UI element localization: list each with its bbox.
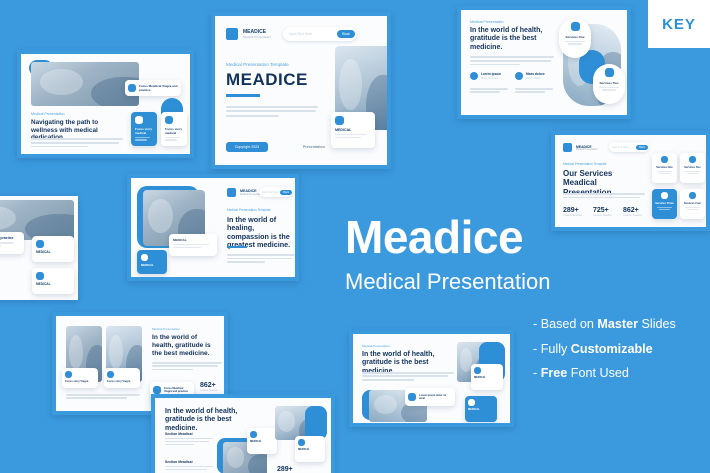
hero-logo: MEADICE Medical Presentation	[226, 28, 271, 40]
slide-health-top[interactable]: Medical Presentation In the world of hea…	[457, 6, 631, 119]
card-icon	[165, 116, 173, 124]
left-edge-card-1[interactable]: MEDICAL	[32, 236, 74, 262]
card-icon	[250, 431, 257, 438]
hero-copyright-button[interactable]: Copyright 2023	[226, 142, 268, 152]
card-icon	[141, 254, 148, 261]
wellness-card-2[interactable]: Focus story medical	[161, 112, 187, 146]
card-icon	[36, 272, 44, 280]
card-icon	[474, 367, 481, 374]
logo-mark-icon	[227, 188, 236, 197]
card-icon	[298, 439, 305, 446]
feature-item-2: - Fully Customizable	[533, 343, 708, 356]
wellness-card-1[interactable]: Focus story medical	[131, 112, 157, 146]
health-br-tile[interactable]: MEDICAL	[465, 396, 497, 422]
services-card-4[interactable]: Services Four	[680, 189, 705, 219]
health-top-card-1[interactable]: Services One	[559, 18, 591, 58]
hero-eyebrow: Medical Presentation Template	[226, 62, 289, 67]
banner-icon	[153, 386, 161, 394]
health-br-card[interactable]: MEDICAL	[471, 364, 503, 390]
hero-search-bar[interactable]: Input Text Here Black	[283, 27, 357, 41]
left-edge-card-2[interactable]: MEDICAL	[32, 268, 74, 294]
search-button[interactable]: Black	[337, 30, 355, 38]
wellness-eyebrow: Medical Presentation	[31, 112, 65, 116]
card-icon	[65, 371, 72, 378]
health-top-bullet-1: Lorem ipsum dolor sit amet	[470, 72, 501, 80]
health-top-title: In the world of health, gratitude is the…	[470, 27, 552, 52]
healing-card[interactable]: MEDICAL	[169, 234, 217, 256]
slide-health-bottom-mid[interactable]: In the world of health, gratitude is the…	[151, 394, 335, 473]
card-icon	[661, 156, 668, 163]
left-edge-title: Focus Meadical Viagra and practice	[0, 236, 20, 240]
healing-eyebrow: Medical Presentation Template	[227, 208, 271, 212]
health-bm-card-1[interactable]: MEDICAL	[247, 428, 277, 454]
health-bl-eyebrow: Medical Presentation	[152, 327, 180, 331]
headline-subtitle: Medical Presentation	[345, 271, 675, 293]
key-format-badge: KEY	[648, 0, 710, 48]
health-top-eyebrow: Medical Presentation	[470, 20, 504, 24]
card-icon	[36, 240, 44, 248]
feature-item-1: - Based on Master Slides	[533, 318, 708, 331]
health-bl-title: In the world of health, gratitude is the…	[152, 334, 220, 357]
card-icon	[689, 156, 696, 163]
card-icon	[135, 116, 143, 124]
feature-item-3: - Free Font Used	[533, 367, 708, 380]
slide-health-bottom-right[interactable]: Medical Presentation In the world of hea…	[349, 330, 514, 427]
card-icon	[571, 22, 580, 31]
bullet-dot-icon	[515, 72, 523, 80]
card-icon	[335, 116, 344, 125]
bullet-dot-icon	[470, 72, 478, 80]
headline-title: Meadice	[345, 214, 675, 260]
card-icon	[605, 68, 614, 77]
health-bm-section-1: Section Meadical	[165, 432, 193, 436]
health-br-banner[interactable]: Lorem ipsum dolor sit amet	[405, 388, 455, 406]
wellness-banner[interactable]: Focus Meadical Viagra and practice	[125, 80, 181, 96]
banner-icon	[408, 393, 416, 401]
health-bm-stat: 289+ Custom Species	[277, 466, 294, 473]
card-icon	[661, 192, 668, 199]
feature-list: - Based on Master Slides - Fully Customi…	[533, 318, 708, 392]
health-top-card-2[interactable]: Services Two	[593, 64, 625, 104]
health-bl-stat: 862+ Custom Species	[200, 382, 217, 392]
services-card-2[interactable]: Services Two	[680, 153, 705, 183]
slide-left-edge[interactable]: Focus Meadical Viagra and practice Lorem…	[0, 196, 78, 300]
search-placeholder: Input Text Here	[289, 32, 312, 36]
slide-healing[interactable]: MEDICAL MEDICAL MEADICE Medical Presenta…	[127, 174, 299, 281]
health-bm-section-2: Section Meadical	[165, 460, 193, 464]
key-badge-label: KEY	[662, 16, 696, 33]
health-br-eyebrow: Medical Presentation	[362, 344, 390, 348]
card-icon	[689, 192, 696, 199]
services-card-1[interactable]: Services One	[652, 153, 677, 183]
services-search-bar[interactable]: Input Text Here Black	[609, 142, 649, 152]
poster-headline: Meadice Medical Presentation	[345, 214, 675, 293]
card-icon	[468, 399, 475, 406]
health-bm-card-2[interactable]: MEDICAL	[295, 436, 325, 462]
logo-mark-icon	[563, 143, 572, 152]
health-bl-photo-card-1[interactable]: Focus story Viagra	[62, 368, 98, 388]
poster-canvas: KEY Focus Meadical Viagra and practice L…	[0, 0, 710, 473]
logo-mark-icon	[226, 28, 238, 40]
healing-search-bar[interactable]: Input Text Here Black	[259, 187, 293, 197]
hero-footer-label: Presentation	[303, 145, 325, 149]
banner-icon	[128, 84, 136, 92]
services-eyebrow: Medical Presentation Template	[563, 162, 607, 166]
card-icon	[107, 371, 114, 378]
health-bl-photo-card-2[interactable]: Focus story Viagra	[104, 368, 140, 388]
services-logo: MEADICE Medical Presentation	[563, 143, 597, 152]
hero-title: MEADICE	[226, 70, 308, 90]
slide-hero[interactable]: MEADICE Medical Presentation Input Text …	[211, 12, 391, 169]
slide-wellness[interactable]: Focus Meadical Viagra and practice Medic…	[17, 50, 194, 158]
healing-title: In the world of healing, compassion is t…	[227, 216, 295, 250]
health-top-bullet-2: Meas dolore ipsum dolor	[515, 72, 545, 80]
hero-medical-card[interactable]: MEDICAL	[331, 112, 375, 148]
healing-logo: MEADICE Medical Presentation	[227, 188, 262, 197]
healing-tile[interactable]: MEDICAL	[137, 250, 167, 274]
